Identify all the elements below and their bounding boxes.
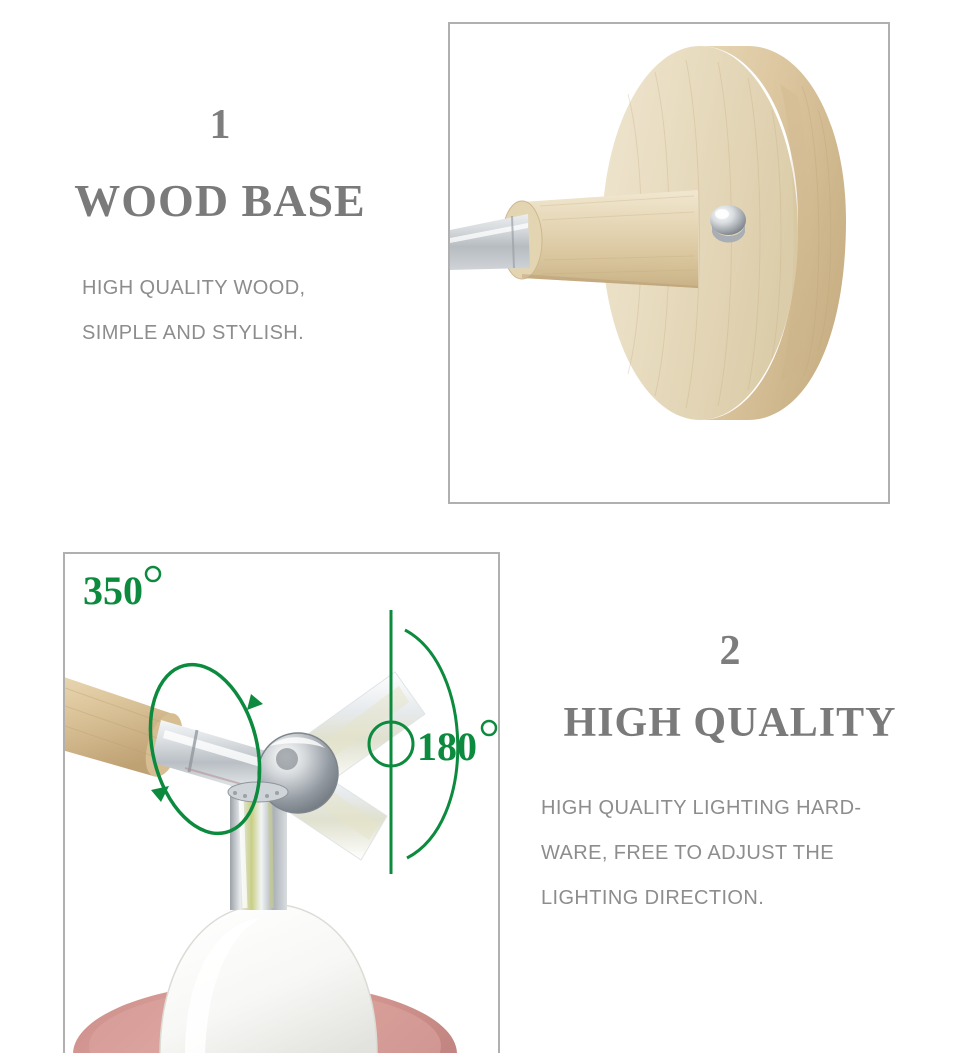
feature-description-1: HIGH QUALITY WOOD, SIMPLE AND STYLISH. [0,266,440,356]
feature-title-1: WOOD BASE [0,178,440,224]
feature-description-2: HIGH QUALITY LIGHTING HARD- WARE, FREE T… [500,786,960,921]
adjustable-joint-illustration: 350 180 [65,554,498,1053]
svg-text:350: 350 [83,568,143,613]
feature-description-1-line-1: HIGH QUALITY WOOD, [82,266,440,311]
photo-frame-wood-base [448,22,890,504]
svg-text:180: 180 [417,724,477,769]
infographic-page: 1 WOOD BASE HIGH QUALITY WOOD, SIMPLE AN… [0,0,960,1053]
feature-block-high-quality: 2 HIGH QUALITY HIGH QUALITY LIGHTING HAR… [500,630,960,921]
photo-frame-adjustable-joint: 350 180 [63,552,500,1053]
feature-description-2-line-1: HIGH QUALITY LIGHTING HARD- [541,786,960,831]
feature-title-2: HIGH QUALITY [500,702,960,744]
wood-base-illustration [450,24,888,502]
step-number-2: 2 [500,630,960,672]
step-number-1: 1 [0,104,440,146]
feature-description-1-line-2: SIMPLE AND STYLISH. [82,311,440,356]
wood-sleeve [502,190,698,288]
chrome-screw-knob [710,205,746,243]
feature-block-wood-base: 1 WOOD BASE HIGH QUALITY WOOD, SIMPLE AN… [0,104,440,356]
feature-description-2-line-3: LIGHTING DIRECTION. [541,876,960,921]
feature-description-2-line-2: WARE, FREE TO ADJUST THE [541,831,960,876]
